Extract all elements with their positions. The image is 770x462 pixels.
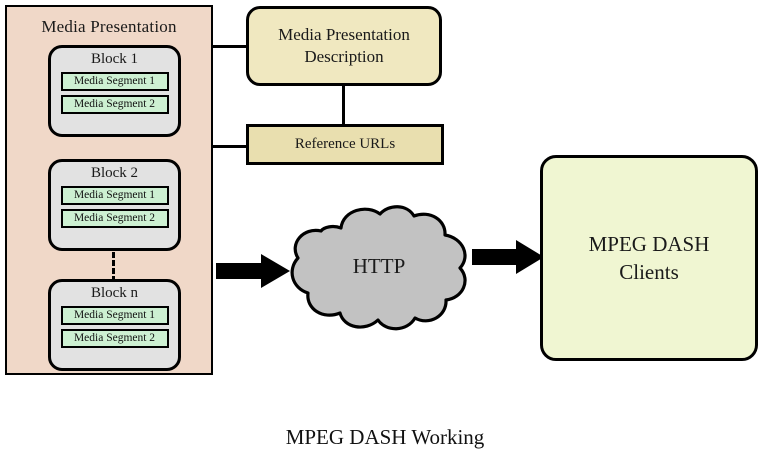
- cloud-shape-icon: [283, 198, 475, 343]
- block-2: Block 2 Media Segment 1 Media Segment 2: [48, 159, 181, 251]
- block-1: Block 1 Media Segment 1 Media Segment 2: [48, 45, 181, 137]
- mpd-label-line-1: Media Presentation: [278, 25, 410, 44]
- block-1-title: Block 1: [51, 51, 178, 68]
- diagram-caption: MPEG DASH Working: [0, 425, 770, 450]
- http-cloud: HTTP: [283, 198, 475, 343]
- block-n-media-segment-2: Media Segment 2: [61, 329, 169, 348]
- block-continuation-dashed-line: [112, 252, 115, 282]
- block-1-media-segment-2: Media Segment 2: [61, 95, 169, 114]
- block-2-media-segment-2: Media Segment 2: [61, 209, 169, 228]
- mpeg-dash-clients-box: MPEG DASH Clients: [540, 155, 758, 361]
- block-2-title: Block 2: [51, 165, 178, 182]
- mpeg-dash-diagram: Media Presentation Block 1 Media Segment…: [0, 0, 770, 462]
- block-n: Block n Media Segment 1 Media Segment 2: [48, 279, 181, 371]
- block-2-media-segment-1: Media Segment 1: [61, 186, 169, 205]
- connector-presentation-to-mpd: [213, 45, 247, 48]
- arrow-http-to-clients-icon: [472, 240, 544, 274]
- connector-presentation-to-reference-urls: [213, 145, 247, 148]
- media-presentation-description-box: Media Presentation Description: [246, 6, 442, 86]
- block-1-media-segment-1: Media Segment 1: [61, 72, 169, 91]
- block-n-media-segment-1: Media Segment 1: [61, 306, 169, 325]
- reference-urls-box: Reference URLs: [246, 124, 444, 165]
- block-n-title: Block n: [51, 285, 178, 302]
- connector-mpd-to-reference-urls: [342, 86, 345, 125]
- clients-label: MPEG DASH Clients: [589, 230, 710, 286]
- media-presentation-title: Media Presentation: [7, 17, 211, 37]
- clients-label-line-2: Clients: [619, 260, 679, 284]
- reference-urls-label: Reference URLs: [295, 136, 395, 153]
- mpd-label: Media Presentation Description: [278, 24, 410, 68]
- mpd-label-line-2: Description: [304, 47, 383, 66]
- media-presentation-panel: Media Presentation Block 1 Media Segment…: [5, 5, 213, 375]
- arrow-presentation-to-http-icon: [216, 254, 290, 288]
- clients-label-line-1: MPEG DASH: [589, 232, 710, 256]
